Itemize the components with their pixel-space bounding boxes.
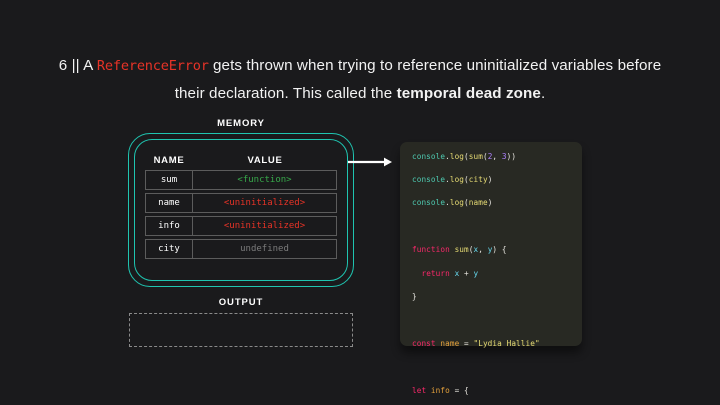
table-row: city undefined: [145, 239, 337, 259]
code-line: console.log(name): [412, 197, 582, 209]
variable-name-cell: info: [145, 216, 193, 236]
column-header-name: NAME: [145, 155, 193, 166]
slide-canvas: 6 || A ReferenceError gets thrown when t…: [0, 0, 720, 405]
table-row: name <uninitialized>: [145, 193, 337, 213]
memory-section-label: MEMORY: [130, 118, 352, 129]
variable-name-cell: sum: [145, 170, 193, 190]
table-row: sum <function>: [145, 170, 337, 190]
code-line: [412, 314, 582, 326]
table-row: info <uninitialized>: [145, 216, 337, 236]
memory-table-header: NAME VALUE: [145, 155, 337, 166]
variable-value-cell: <uninitialized>: [193, 216, 337, 236]
code-line: const name = "Lydia Hallie": [412, 338, 582, 350]
page-title: 6 || A ReferenceError gets thrown when t…: [54, 52, 666, 108]
caption-prefix: 6 || A: [59, 57, 97, 74]
code-line: [412, 361, 582, 373]
variable-value-cell: undefined: [193, 239, 337, 259]
code-line: [412, 221, 582, 233]
memory-table: NAME VALUE sum <function> name <uninitia…: [145, 155, 337, 262]
code-line: return x + y: [412, 268, 582, 280]
variable-name-cell: name: [145, 193, 193, 213]
variable-name-cell: city: [145, 239, 193, 259]
code-line: function sum(x, y) {: [412, 244, 582, 256]
code-line: let info = {: [412, 385, 582, 397]
reference-error-token: ReferenceError: [97, 58, 209, 74]
output-section-label: OUTPUT: [130, 297, 352, 308]
variable-value-cell: <uninitialized>: [193, 193, 337, 213]
column-header-value: VALUE: [193, 155, 337, 166]
temporal-dead-zone-token: temporal dead zone: [397, 85, 541, 102]
code-line: }: [412, 291, 582, 303]
code-line: console.log(sum(2, 3)): [412, 151, 582, 163]
arrow-right-icon: [348, 157, 392, 167]
caption-suffix: .: [541, 85, 545, 102]
code-block: console.log(sum(2, 3)) console.log(city)…: [412, 139, 582, 405]
variable-value-cell: <function>: [193, 170, 337, 190]
code-line: console.log(city): [412, 174, 582, 186]
output-box: [129, 313, 353, 347]
